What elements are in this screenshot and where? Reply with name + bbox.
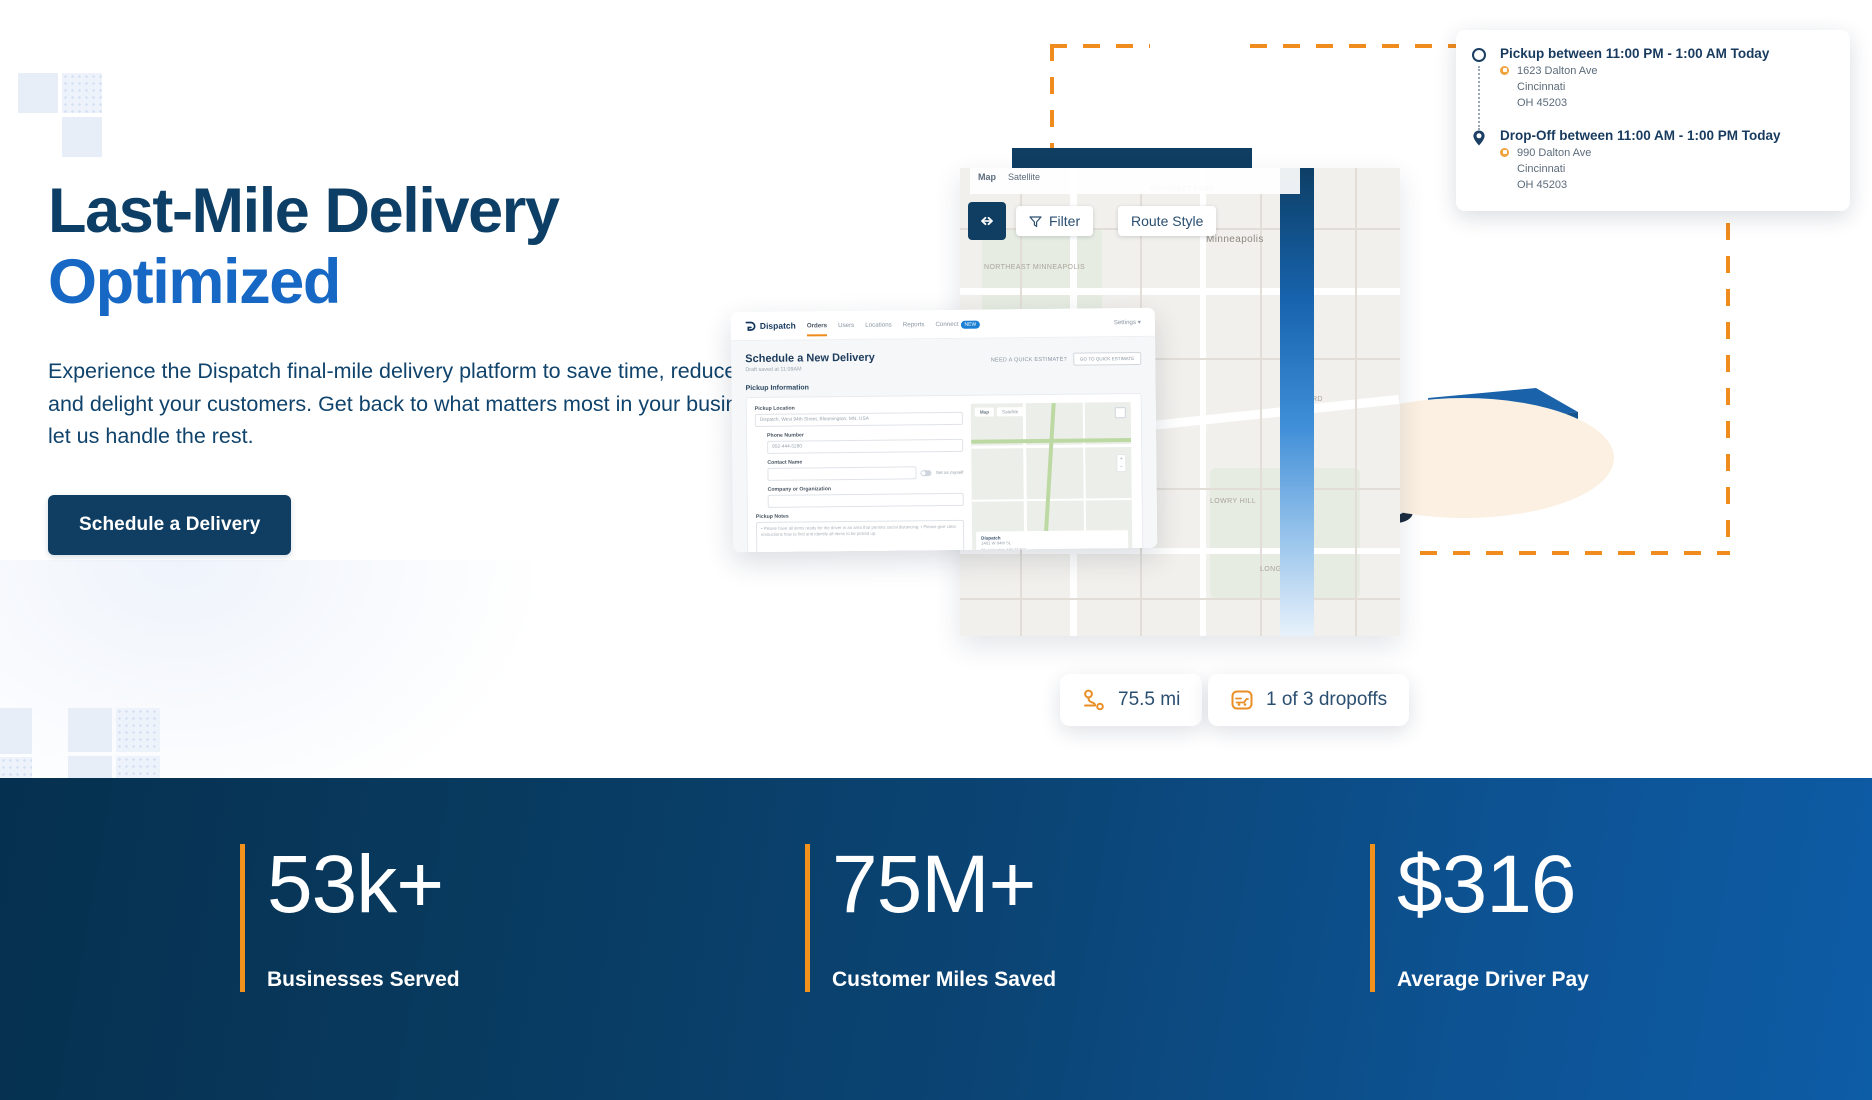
route-leg-pickup: Pickup between 11:00 PM - 1:00 AM Today …	[1470, 46, 1832, 112]
decorative-square	[62, 73, 102, 113]
set-as-myself-toggle[interactable]	[921, 470, 932, 476]
address-marker-icon	[1500, 148, 1509, 157]
map-road	[960, 288, 1400, 295]
stat-businesses-served: 53k+ Businesses Served	[240, 844, 460, 992]
pickup-location-input[interactable]: Dispatch, West 94th Street, Bloomington,…	[755, 412, 963, 427]
dashboard-nav-reports[interactable]: Reports	[903, 321, 925, 328]
distance-pill: 75.5 mi	[1060, 674, 1202, 726]
decorative-square	[116, 708, 160, 752]
page-title: Last-Mile Delivery Optimized	[48, 176, 848, 317]
decorative-square	[18, 73, 58, 113]
dashboard-brand: Dispatch	[760, 321, 796, 331]
mini-map-expand-icon[interactable]	[1115, 407, 1126, 418]
connect-badge: NEW	[960, 320, 980, 328]
route-dash-segment	[1420, 551, 1730, 555]
hero-subtext: Experience the Dispatch final-mile deliv…	[48, 355, 818, 453]
dashboard-settings-menu[interactable]: Settings ▾	[1114, 318, 1141, 325]
mini-map-tab-map[interactable]: Map	[975, 407, 994, 416]
route-dash-segment	[1050, 44, 1150, 48]
dropoff-region: OH 45203	[1500, 177, 1832, 193]
pickup-region: OH 45203	[1500, 95, 1832, 111]
dashboard-body: Schedule a New Delivery Draft saved at 1…	[731, 337, 1157, 552]
pickup-form-fields: Pickup Location Dispatch, West 94th Stre…	[755, 404, 965, 552]
dropoff-city: Cincinnati	[1500, 161, 1832, 177]
dashboard-nav-orders[interactable]: Orders	[807, 322, 827, 329]
phone-number-label: Phone Number	[767, 431, 963, 439]
funnel-icon	[1029, 215, 1042, 228]
stat-value: $316	[1397, 844, 1589, 926]
expand-arrows-icon	[977, 215, 997, 227]
pickup-title: Pickup between 11:00 PM - 1:00 AM Today	[1500, 46, 1832, 63]
decorative-square	[68, 708, 112, 752]
contact-name-row: Set as myself	[767, 466, 963, 481]
map-label: LOWRY HILL	[1210, 498, 1256, 505]
pickup-notes-label: Pickup Notes	[756, 512, 964, 520]
decorative-square	[116, 756, 160, 778]
route-icon	[1082, 688, 1106, 712]
quick-estimate-button[interactable]: GO TO QUICK ESTIMATE	[1073, 352, 1142, 366]
map-road	[1355, 168, 1357, 636]
dropoffs-label: 1 of 3 dropoffs	[1266, 689, 1387, 711]
hero-illustration: NORTHEAST MINNEAPOLIS Minneapolis NORTHE…	[860, 0, 1872, 778]
route-dash-segment	[1726, 190, 1730, 552]
filter-button[interactable]: Filter	[1016, 206, 1093, 236]
map-label: Minneapolis	[1206, 234, 1264, 245]
dropoffs-pill: 1 of 3 dropoffs	[1208, 674, 1409, 726]
dispatch-logo-icon	[745, 320, 756, 331]
landing-page: Last-Mile Delivery Optimized Experience …	[0, 0, 1872, 1100]
dropoff-address: 990 Dalton Ave	[1500, 145, 1832, 161]
stat-label: Businesses Served	[267, 968, 460, 992]
pickup-address-text: 1623 Dalton Ave	[1517, 65, 1598, 77]
pickup-city: Cincinnati	[1500, 79, 1832, 95]
dashboard-nav-connect[interactable]: ConnectNEW	[935, 320, 980, 327]
pickup-subfields: Phone Number 952-444-5280 Contact Name S…	[755, 431, 964, 508]
mini-map-zoom-controls[interactable]: +−	[1116, 454, 1126, 472]
dashboard-nav-locations[interactable]: Locations	[865, 321, 892, 328]
mini-map-tab-satellite[interactable]: Satellite	[997, 407, 1023, 416]
stat-label: Customer Miles Saved	[832, 968, 1056, 992]
route-style-button[interactable]: Route Style	[1118, 206, 1216, 236]
address-marker-icon	[1500, 66, 1509, 75]
dropoff-address-text: 990 Dalton Ave	[1517, 147, 1591, 159]
decorative-square	[0, 757, 32, 778]
pickup-notes-textarea[interactable]: • Please have all items ready for the dr…	[756, 520, 964, 552]
set-as-myself-label: Set as myself	[936, 470, 964, 475]
dashboard-nav-users[interactable]: Users	[838, 321, 854, 328]
map-label: NORTHEAST MINNEAPOLIS	[984, 264, 1085, 271]
pickup-mini-map[interactable]: Map Satellite +− Adjust Location Dispatc…	[971, 402, 1133, 552]
decorative-square	[62, 117, 102, 157]
quick-estimate-group: NEED A QUICK ESTIMATE? GO TO QUICK ESTIM…	[991, 352, 1142, 367]
map-road	[960, 598, 1400, 600]
route-connector-line	[1478, 66, 1480, 130]
dispatch-dashboard-card: Dispatch Orders Users Locations Reports …	[731, 308, 1157, 552]
stats-band: 53k+ Businesses Served 75M+ Customer Mil…	[0, 778, 1872, 1100]
decorative-square	[68, 756, 112, 778]
pickup-information-heading: Pickup Information	[746, 381, 1142, 392]
pickup-form-panel: Pickup Location Dispatch, West 94th Stre…	[746, 393, 1144, 552]
headline-line-2: Optimized	[48, 247, 848, 318]
dropoff-title: Drop-Off between 11:00 AM - 1:00 PM Toda…	[1500, 128, 1832, 145]
mini-map-tabs: Map Satellite	[975, 407, 1024, 417]
stat-label: Average Driver Pay	[1397, 968, 1589, 992]
dashboard-nav: Dispatch Orders Users Locations Reports …	[731, 308, 1155, 341]
contact-name-input[interactable]	[767, 466, 917, 481]
stat-average-driver-pay: $316 Average Driver Pay	[1370, 844, 1589, 992]
decorative-square	[0, 708, 32, 754]
expand-arrows-button[interactable]	[968, 202, 1006, 240]
map-park	[982, 228, 1102, 318]
company-input[interactable]	[768, 493, 964, 508]
hero-copy: Last-Mile Delivery Optimized Experience …	[48, 176, 848, 555]
stat-customer-miles-saved: 75M+ Customer Miles Saved	[805, 844, 1056, 992]
stat-value: 75M+	[832, 844, 1056, 926]
stat-value: 53k+	[267, 844, 460, 926]
route-style-label: Route Style	[1131, 213, 1203, 229]
distance-label: 75.5 mi	[1118, 689, 1180, 711]
phone-number-input[interactable]: 952-444-5280	[767, 439, 963, 454]
contact-name-label: Contact Name	[767, 458, 963, 466]
pickup-circle-icon	[1470, 47, 1488, 65]
map-tab-satellite[interactable]: Satellite	[1008, 172, 1040, 182]
quick-estimate-label: NEED A QUICK ESTIMATE?	[991, 356, 1067, 363]
pickup-address: 1623 Dalton Ave	[1500, 63, 1832, 79]
map-tab-map[interactable]: Map	[978, 172, 996, 182]
route-summary-card: Pickup between 11:00 PM - 1:00 AM Today …	[1456, 30, 1850, 211]
hero-section: Last-Mile Delivery Optimized Experience …	[0, 0, 1872, 778]
headline-line-1: Last-Mile Delivery	[48, 176, 559, 246]
dispatch-logo: Dispatch	[745, 320, 796, 332]
connect-label: Connect	[935, 320, 958, 327]
company-label: Company or Organization	[768, 485, 964, 493]
pickup-location-label: Pickup Location	[755, 404, 963, 412]
map-gradient-strip	[1280, 168, 1314, 636]
route-leg-dropoff: Drop-Off between 11:00 AM - 1:00 PM Toda…	[1470, 128, 1832, 194]
filter-label: Filter	[1049, 213, 1080, 229]
dropoff-pin-icon	[1470, 129, 1488, 147]
truck-box-icon	[1230, 688, 1254, 712]
schedule-delivery-button[interactable]: Schedule a Delivery	[48, 495, 291, 555]
